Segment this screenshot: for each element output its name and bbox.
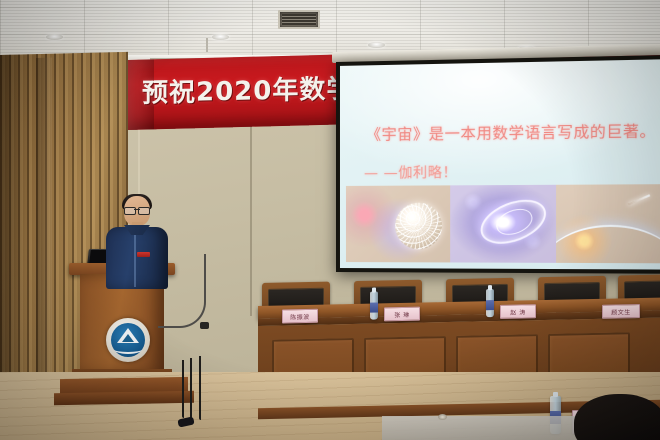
nameplate-seat-2: 张 琳 [384,307,420,322]
downlight-1 [46,34,63,40]
presenter-shirt [106,227,168,289]
table-knob [438,414,447,420]
emblem-wave-mark [114,345,142,354]
nameplate-seat-1: 陈振波 [282,309,318,324]
slide-quote-line: 《宇宙》是一本用数学语言写成的巨著。 [366,120,656,145]
projection-screen: 《宇宙》是一本用数学语言写成的巨著。 — —伽利略！ [336,55,660,274]
presenter-badge [137,252,150,257]
podium-step-lower [54,391,194,405]
projected-slide: 《宇宙》是一本用数学语言写成的巨著。 — —伽利略！ [340,59,660,269]
spiral-galaxy-icon [475,191,554,252]
presenter [104,196,170,288]
wall-corner-highlight [36,58,52,383]
slide-attribution-line: — —伽利略！ [364,162,457,183]
university-emblem [106,318,150,362]
planet-limb [556,225,660,263]
nameplate-seat-4: 顾文生 [602,304,640,319]
downlight-2 [212,34,229,40]
slide-image-spiral-galaxy [450,185,557,263]
lectern-body [80,274,164,374]
water-bottle-2 [486,289,494,317]
slide-image-strip [346,184,660,263]
ceiling-air-vent [278,10,320,29]
slide-image-planet-sunrise-comet [556,184,660,263]
microphone-cable-clip [200,322,209,329]
eyeglasses-icon [124,207,150,213]
floor-cable-2 [190,358,192,420]
vent-louvers [282,14,316,25]
geodesic-sphere-icon [395,202,442,249]
emblem-triangle-mark [117,328,139,343]
nameplate-seat-3: 赵 涛 [500,304,536,319]
sprinkler-dropper [206,38,208,52]
wood-slat-shadow [0,54,26,385]
water-bottle-1 [370,291,378,319]
floor-cable-3 [199,356,201,420]
audience-head-foreground [574,394,660,440]
slide-image-geodesic-sphere-nebula [346,185,450,262]
downlight-3 [368,42,385,48]
lecture-hall-photo: 预祝2020年数学建模大赛 选拔 《宇宙》是一本用数学语言写成的巨著。 — —伽… [0,0,660,440]
floor-cable-1 [182,360,184,418]
wall-seam-center [250,126,252,316]
comet-icon [627,194,649,205]
